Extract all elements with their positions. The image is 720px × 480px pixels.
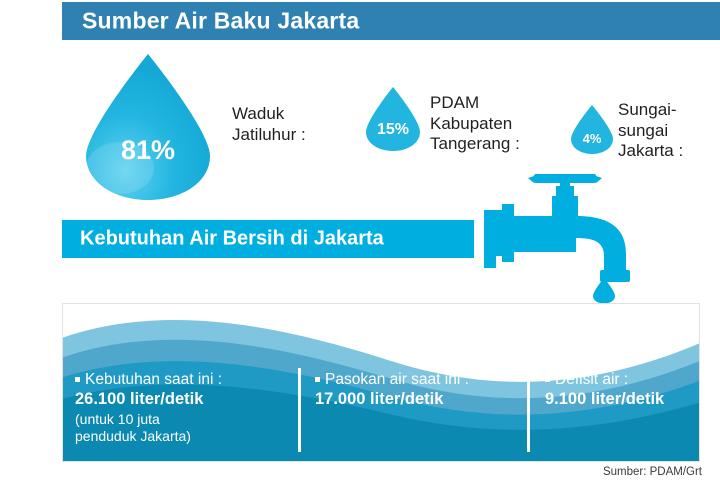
- faucet-icon: [488, 172, 648, 307]
- header-bar: Sumber Air Baku Jakarta: [62, 2, 720, 40]
- water-drop-icon: [592, 278, 616, 304]
- stat-divider: [527, 368, 530, 452]
- stat-divider: [298, 368, 301, 452]
- source-drop-pdam-tangerang: 15%: [362, 86, 424, 152]
- source-percent-label: 15%: [362, 121, 424, 139]
- source-percent-label: 81%: [78, 135, 218, 166]
- stat-value: 17.000 liter/detik: [315, 389, 469, 410]
- stat-label: Pasokan air saat ini :: [315, 370, 469, 389]
- stat-label-text: Defisit air :: [555, 371, 628, 388]
- water-drop-icon: [362, 86, 424, 152]
- banner-pipe-connector: [484, 210, 496, 268]
- stats-row: Kebutuhan saat ini : 26.100 liter/detik …: [63, 304, 699, 461]
- source-label-pdam-tangerang: PDAM Kabupaten Tangerang :: [430, 93, 520, 155]
- source-label-sungai-jakarta: Sungai- sungai Jakarta :: [618, 100, 683, 162]
- stat-label-text: Pasokan air saat ini :: [325, 371, 469, 388]
- stat-defisit: Defisit air : 9.100 liter/detik: [545, 370, 664, 411]
- bullet-icon: [545, 377, 550, 382]
- stat-label: Defisit air :: [545, 370, 664, 389]
- stat-label: Kebutuhan saat ini :: [75, 370, 222, 389]
- stat-kebutuhan: Kebutuhan saat ini : 26.100 liter/detik …: [75, 370, 222, 445]
- source-credit: Sumber: PDAM/Grt: [603, 466, 702, 478]
- water-drop-icon: [78, 52, 218, 202]
- water-drop-icon: [568, 104, 616, 155]
- infographic-root: Sumber Air Baku Jakarta 81% Waduk Jatilu…: [0, 0, 720, 480]
- stat-label-text: Kebutuhan saat ini :: [85, 371, 222, 388]
- page-title: Sumber Air Baku Jakarta: [82, 8, 359, 35]
- stat-value: 9.100 liter/detik: [545, 389, 664, 410]
- bullet-icon: [315, 377, 320, 382]
- bullet-icon: [75, 377, 80, 382]
- source-drop-waduk-jatiluhur: 81%: [78, 52, 218, 202]
- source-percent-label: 4%: [568, 131, 616, 146]
- source-label-waduk-jatiluhur: Waduk Jatiluhur :: [232, 104, 306, 145]
- stat-value: 26.100 liter/detik: [75, 389, 222, 410]
- source-drop-sungai-jakarta: 4%: [568, 104, 616, 155]
- stat-note: (untuk 10 juta penduduk Jakarta): [75, 411, 222, 445]
- banner-kebutuhan-air: Kebutuhan Air Bersih di Jakarta: [62, 220, 474, 258]
- stats-panel: Kebutuhan saat ini : 26.100 liter/detik …: [62, 303, 700, 462]
- stat-pasokan: Pasokan air saat ini : 17.000 liter/deti…: [315, 370, 469, 411]
- banner-label: Kebutuhan Air Bersih di Jakarta: [80, 228, 384, 251]
